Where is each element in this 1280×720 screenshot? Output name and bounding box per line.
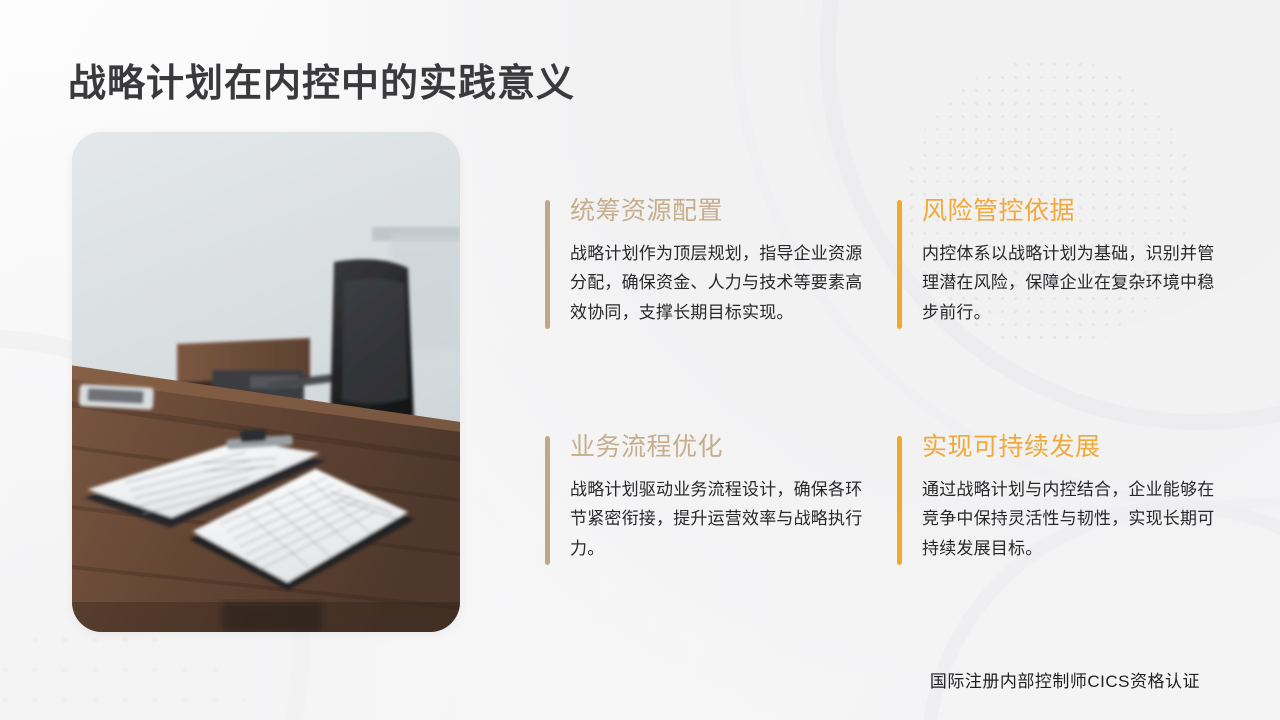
feature-block-1-heading: 统筹资源配置 [570,196,865,227]
content-grid: 统筹资源配置 战略计划作为顶层规划，指导企业资源分配，确保资金、人力与技术等要素… [545,196,1233,636]
feature-block-4: 实现可持续发展 通过战略计划与内控结合，企业能够在竞争中保持灵活性与韧性，实现长… [897,432,1217,563]
page-title: 战略计划在内控中的实践意义 [68,52,575,107]
feature-block-1-body: 战略计划作为顶层规划，指导企业资源分配，确保资金、人力与技术等要素高效协同，支撑… [570,239,863,327]
feature-block-4-body: 通过战略计划与内控结合，企业能够在竞争中保持灵活性与韧性，实现长期可持续发展目标… [922,475,1215,563]
feature-block-4-heading: 实现可持续发展 [922,432,1217,463]
feature-block-3: 业务流程优化 战略计划驱动业务流程设计，确保各环节紧密衔接，提升运营效率与战略执… [545,432,865,563]
feature-block-2-body: 内控体系以战略计划为基础，识别并管理潜在风险，保障企业在复杂环境中稳步前行。 [922,239,1215,327]
feature-block-3-heading: 业务流程优化 [570,432,865,463]
feature-block-1: 统筹资源配置 战略计划作为顶层规划，指导企业资源分配，确保资金、人力与技术等要素… [545,196,865,327]
office-desk-image [72,132,460,632]
office-desk-illustration [72,132,460,632]
slide-canvas: 战略计划在内控中的实践意义 [0,0,1280,720]
feature-block-2: 风险管控依据 内控体系以战略计划为基础，识别并管理潜在风险，保障企业在复杂环境中… [897,196,1217,327]
footer-branding: 国际注册内部控制师CICS资格认证 [930,667,1200,692]
dot-grid-bottom-left [0,625,250,720]
feature-block-3-body: 战略计划驱动业务流程设计，确保各环节紧密衔接，提升运营效率与战略执行力。 [570,475,863,563]
feature-block-2-heading: 风险管控依据 [922,196,1217,227]
